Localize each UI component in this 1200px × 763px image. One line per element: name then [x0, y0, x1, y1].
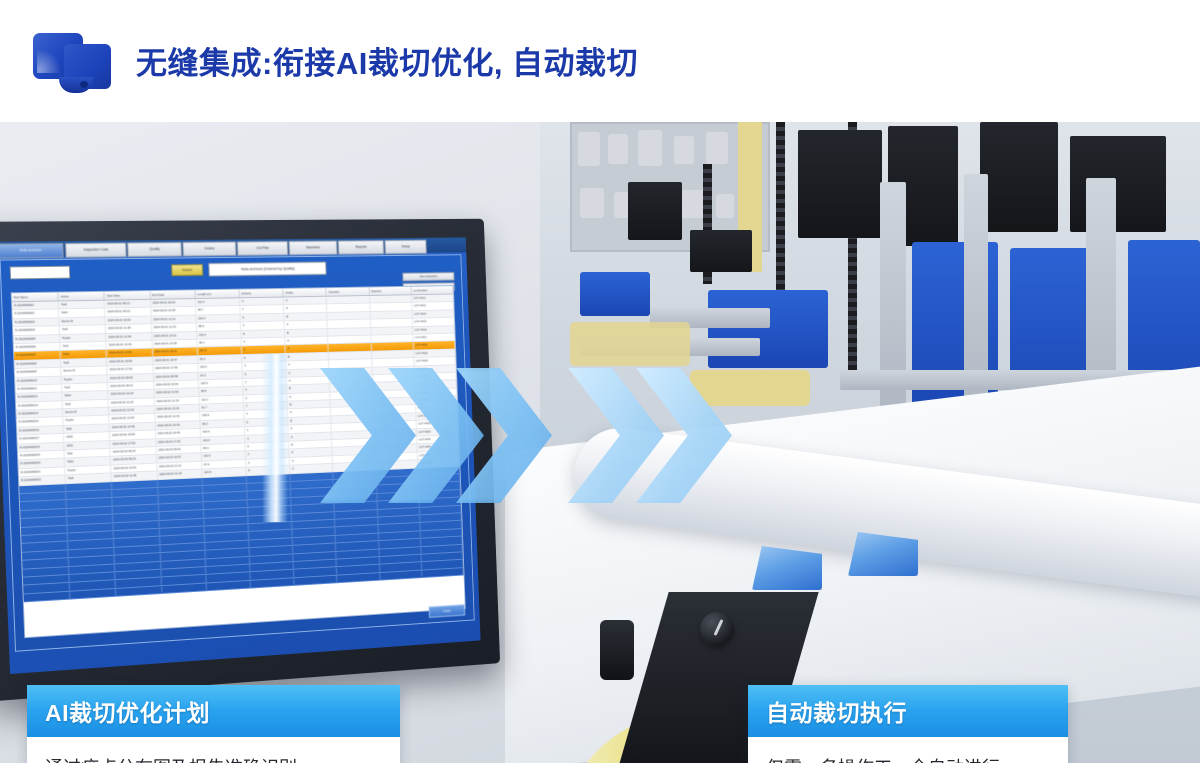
monitor-screen: Rolls Archives Inspection Code Quality O… [0, 237, 481, 674]
table-cell [24, 591, 71, 601]
window-title-field: Rolls Archives [Ordered by Quality] [208, 262, 326, 277]
table-cell: LOT-4415 [413, 318, 455, 326]
gantry-head-icon [798, 130, 882, 238]
gantry-head-icon [980, 122, 1058, 232]
table-cell: 2024.09.01 17:55 [153, 364, 198, 372]
table-cell [370, 295, 412, 303]
table-cell: Satin [61, 350, 107, 358]
table-cell: 5 [241, 314, 285, 322]
close-button[interactable]: Close [429, 604, 465, 618]
machine-body-blue [580, 272, 650, 316]
table-cell: B [287, 384, 330, 392]
table-cell: 118.2 [198, 363, 243, 371]
table-column-header: Machine [369, 287, 411, 295]
table-cell [327, 296, 370, 304]
rolls-table[interactable]: Roll NameArticleStart DateEnd DateLength… [11, 285, 466, 638]
table-cell: B [286, 353, 329, 361]
table-cell: 112.4 [196, 298, 241, 306]
table-cell: 8 [241, 330, 285, 338]
table-column-header: Roll Name [12, 293, 59, 302]
info-card-title: 自动裁切执行 [766, 694, 907, 728]
info-card-auto-cut: 自动裁切执行 仅需一名操作工，全自动进行 裁切，节省废料≥1% [748, 685, 1068, 763]
table-cell: 2024.09.01 09:02 [151, 299, 196, 307]
table-cell [329, 343, 372, 351]
table-empty-rows [19, 466, 463, 602]
table-cell: 2024.09.01 16:47 [153, 356, 198, 364]
table-column-header: Length (m) [195, 290, 240, 298]
wedge-marker-icon [848, 532, 918, 576]
tab-quality[interactable]: Quality [127, 242, 182, 257]
table-cell [373, 382, 415, 390]
table-cell: 2024.09.02 08:58 [153, 372, 198, 380]
table-cell: LOT-4419 [414, 349, 456, 357]
table-cell [329, 351, 372, 359]
new-inspection-button[interactable]: New Inspection [402, 272, 454, 281]
table-cell: A [286, 360, 329, 368]
table-cell [329, 359, 372, 367]
table-cell: LOT-4423 [415, 380, 457, 388]
table-cell [330, 375, 373, 383]
table-cell: A [285, 337, 328, 345]
table-cell: 2024.09.01 15:55 [107, 357, 153, 365]
table-cell: R-2024090004 [13, 326, 60, 334]
table-cell: 2024.09.01 14:38 [152, 340, 197, 348]
gantry-head-icon [628, 182, 682, 240]
table-cell: R-2024090011 [15, 384, 62, 393]
table-cell: 3 [240, 297, 284, 305]
info-card-header: AI裁切优化计划 [27, 685, 400, 737]
page-title: 无缝集成:衔接AI裁切优化, 自动裁切 [136, 42, 638, 86]
tab-cut-plan[interactable]: Cut Plan [237, 241, 288, 256]
roller-knob-icon [700, 612, 734, 646]
table-column-header: Grade [283, 288, 327, 296]
table-cell: 4 [241, 338, 285, 346]
gantry-head-icon [690, 230, 752, 272]
table-cell: 98.7 [196, 306, 241, 314]
table-cell: 2 [241, 322, 285, 330]
table-cell: 2024.09.01 17:02 [108, 365, 154, 374]
table-column-header: Start Date [105, 291, 151, 300]
table-cell [330, 383, 373, 391]
table-cell [330, 367, 373, 375]
app-body: Search Rolls Archives [Ordered by Qualit… [0, 254, 475, 651]
search-button[interactable]: Search [171, 264, 203, 276]
table-cell: Twill [61, 358, 107, 367]
table-cell [372, 358, 414, 366]
table-cell: 2024.09.01 12:22 [152, 323, 197, 331]
table-cell [373, 374, 415, 382]
table-cell: 2024.09.01 12:40 [106, 333, 152, 341]
table-cell: R-2024090002 [12, 310, 59, 318]
table-cell: LOT-4418 [413, 341, 455, 349]
page-root: 无缝集成:衔接AI裁切优化, 自动裁切 [0, 0, 1200, 763]
table-cell: 2024.09.01 11:14 [151, 315, 196, 323]
table-cell [380, 570, 422, 579]
table-cell: A [284, 305, 327, 313]
table-cell: Poplin [62, 375, 108, 384]
table-cell: 120.3 [197, 331, 242, 339]
page-header: 无缝集成:衔接AI裁切优化, 自动裁切 [0, 0, 1200, 122]
fabric-roll-icon [33, 33, 111, 95]
table-cell: 99.8 [199, 387, 244, 396]
table-cell [328, 328, 371, 336]
table-cell: 101.9 [197, 347, 242, 355]
table-cell: R-2024090008 [14, 360, 61, 369]
table-cell: LOT-4412 [412, 294, 454, 302]
table-cell: 2024.09.01 08:12 [105, 300, 151, 308]
roller-axle [600, 620, 634, 680]
table-cell: 2 [242, 346, 286, 354]
table-cell [372, 366, 414, 374]
table-cell: 2024.09.01 09:10 [105, 308, 151, 316]
tab-orders[interactable]: Orders [182, 241, 236, 256]
table-cell: LOT-4420 [414, 357, 456, 365]
table-cell [372, 350, 414, 358]
table-cell: 2024.09.01 15:41 [153, 348, 198, 356]
table-cell: Twill [60, 342, 106, 350]
table-cell: R-2024090007 [14, 351, 61, 360]
table-cell: LOT-4417 [413, 334, 455, 342]
table-cell: 2024.09.02 08:05 [108, 373, 154, 382]
table-cell [337, 573, 380, 583]
light-streak [262, 354, 288, 522]
table-cell: 2024.09.01 14:50 [107, 349, 153, 357]
table-cell [70, 589, 116, 599]
table-cell [370, 319, 412, 327]
machine-body-blue [708, 290, 828, 368]
table-cell: R-2024090010 [15, 376, 62, 385]
table-cell: 105.6 [199, 379, 244, 387]
table-cell: 104.0 [196, 314, 241, 322]
yellow-guard [690, 370, 810, 406]
table-column-header: End Date [150, 290, 195, 299]
table-cell: B [285, 329, 328, 337]
table-cell: A [285, 321, 328, 329]
wedge-marker-icon [752, 546, 822, 590]
table-cell [206, 581, 250, 591]
table-cell [294, 575, 337, 585]
table-cell: LOT-4416 [413, 326, 455, 334]
gantry-head-icon [1070, 136, 1166, 232]
table-cell: A [284, 297, 327, 305]
table-cell: R-2024090006 [14, 343, 61, 351]
tab-machines[interactable]: Machines [289, 241, 338, 256]
table-column-header: Operator [327, 287, 370, 295]
table-cell: R-2024090001 [12, 301, 59, 309]
table-cell [371, 342, 413, 350]
table-cell: A [286, 345, 329, 353]
table-cell [116, 586, 162, 596]
table-cell: B [284, 313, 327, 321]
table-column-header: Lot Number [411, 286, 453, 294]
table-cell: 2024.09.02 10:04 [154, 380, 199, 389]
table-cell: 2024.09.01 13:31 [152, 332, 197, 340]
table-cell: Twill [62, 383, 108, 392]
table-cell [370, 311, 412, 319]
table-cell: R-2024090009 [15, 368, 62, 377]
monitor: Rolls Archives Inspection Code Quality O… [0, 219, 500, 702]
table-cell [328, 320, 371, 328]
table-cell: Denim B [61, 367, 107, 376]
table-cell: 2024.09.01 10:20 [106, 316, 152, 324]
table-cell: C [286, 368, 329, 376]
table-cell: Denim B [60, 317, 106, 325]
table-cell: Satin [59, 309, 105, 317]
info-card-body: 通过疵点分布图及报告准确识别 面料裁剪点，并生成优化裁切方案 [27, 737, 400, 763]
search-input[interactable] [10, 266, 71, 280]
table-cell: R-2024090005 [13, 335, 60, 343]
table-cell: A [287, 376, 330, 384]
tab-rolls-archives[interactable]: Rolls Archives [0, 243, 64, 259]
table-cell: Satin [62, 391, 108, 400]
tab-setup[interactable]: Setup [385, 240, 427, 255]
table-cell: 2024.09.01 10:05 [151, 307, 196, 315]
tab-inspection-code[interactable]: Inspection Code [65, 242, 127, 257]
table-cell [162, 583, 207, 593]
table-cell: R-2024090012 [16, 393, 63, 402]
table-rows-host: R-2024090001Twill2024.09.01 08:122024.09… [12, 294, 460, 485]
yellow-pad [570, 322, 690, 366]
info-card-ai-plan: AI裁切优化计划 通过疵点分布图及报告准确识别 面料裁剪点，并生成优化裁切方案 [27, 685, 400, 763]
table-cell [371, 327, 413, 335]
table-cell: 2024.09.02 11:09 [154, 388, 199, 397]
table-cell: 2024.09.01 11:30 [106, 324, 152, 332]
table-cell [327, 304, 370, 312]
table-cell: Twill [60, 325, 106, 333]
info-card-body: 仅需一名操作工，全自动进行 裁切，节省废料≥1% [748, 737, 1068, 763]
table-cell: 96.1 [197, 339, 242, 347]
table-column-header: Article [59, 292, 105, 301]
table-cell [251, 578, 295, 588]
info-card-line: 仅需一名操作工，全自动进行 [766, 753, 1050, 763]
table-cell: 2024.09.01 13:45 [107, 341, 153, 349]
hero-photo: Rolls Archives Inspection Code Quality O… [0, 122, 1200, 763]
table-cell: LOT-4414 [412, 310, 454, 318]
info-card-title: AI裁切优化计划 [45, 694, 210, 728]
table-cell: 2024.09.02 09:12 [108, 382, 154, 391]
table-cell [328, 336, 371, 344]
table-cell: R-2024090003 [13, 318, 60, 326]
table-cell: 87.5 [198, 371, 243, 379]
table-cell [371, 335, 413, 343]
table-cell: 2024.09.02 10:18 [109, 390, 155, 399]
table-cell: Twill [59, 301, 105, 309]
info-card-line: 通过疵点分布图及报告准确识别 [45, 753, 382, 763]
table-cell: LOT-4421 [414, 365, 456, 373]
table-cell: LOT-4422 [415, 373, 457, 381]
table-column-header: Defects [240, 289, 284, 297]
table-cell: 93.4 [198, 355, 243, 363]
table-cell: 88.6 [197, 322, 242, 330]
inspection-app-window: Rolls Archives Inspection Code Quality O… [0, 237, 481, 674]
table-cell [328, 312, 371, 320]
table-cell [422, 568, 464, 577]
table-cell [370, 303, 412, 311]
table-cell: Poplin [60, 334, 106, 342]
info-card-header: 自动裁切执行 [748, 685, 1068, 737]
tab-reports[interactable]: Reports [338, 240, 384, 255]
table-cell: 1 [240, 306, 284, 314]
table-cell: LOT-4413 [412, 302, 454, 310]
